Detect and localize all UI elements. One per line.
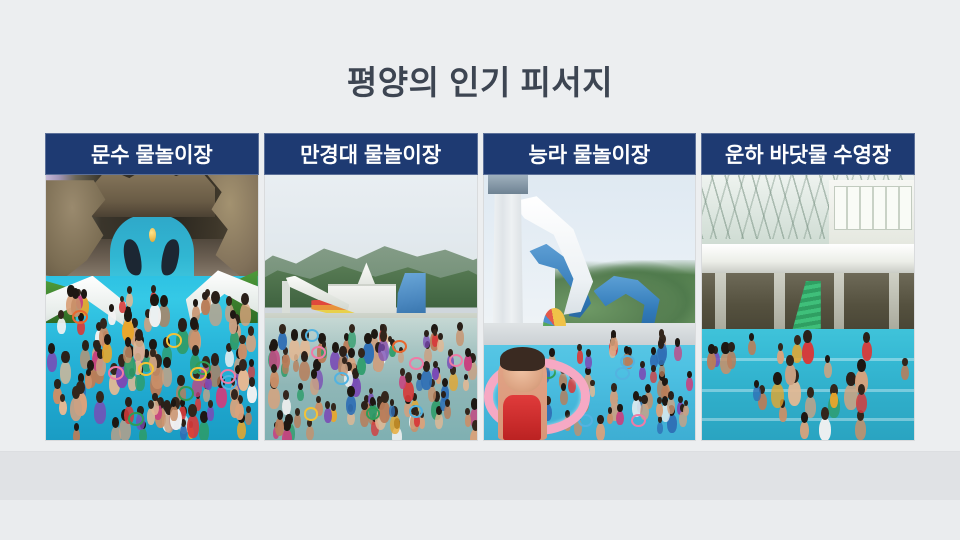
card-title-munsu: 문수 물놀이장 xyxy=(45,133,259,175)
photo-card-mangyongdae[interactable]: 만경대 물놀이장 xyxy=(264,133,478,441)
slide-canvas: 평양의 인기 피서지 문수 물놀이장 xyxy=(0,0,960,452)
photo-card-unha[interactable]: 운하 바닷물 수영장 xyxy=(701,133,915,441)
page-title: 평양의 인기 피서지 xyxy=(0,62,960,104)
photo-card-rungra[interactable]: 능라 물놀이장 xyxy=(483,133,697,441)
photo-card-row: 문수 물놀이장 xyxy=(45,133,915,441)
rungra-water-park-photo xyxy=(483,175,697,441)
card-title-unha: 운하 바닷물 수영장 xyxy=(701,133,915,175)
photo-card-munsu[interactable]: 문수 물놀이장 xyxy=(45,133,259,441)
munsu-water-park-photo xyxy=(45,175,259,441)
unha-seawater-pool-photo xyxy=(701,175,915,441)
footer-band xyxy=(0,500,960,540)
bottom-band xyxy=(0,452,960,500)
mangyongdae-water-park-photo xyxy=(264,175,478,441)
card-title-mangyongdae: 만경대 물놀이장 xyxy=(264,133,478,175)
card-title-rungra: 능라 물놀이장 xyxy=(483,133,697,175)
